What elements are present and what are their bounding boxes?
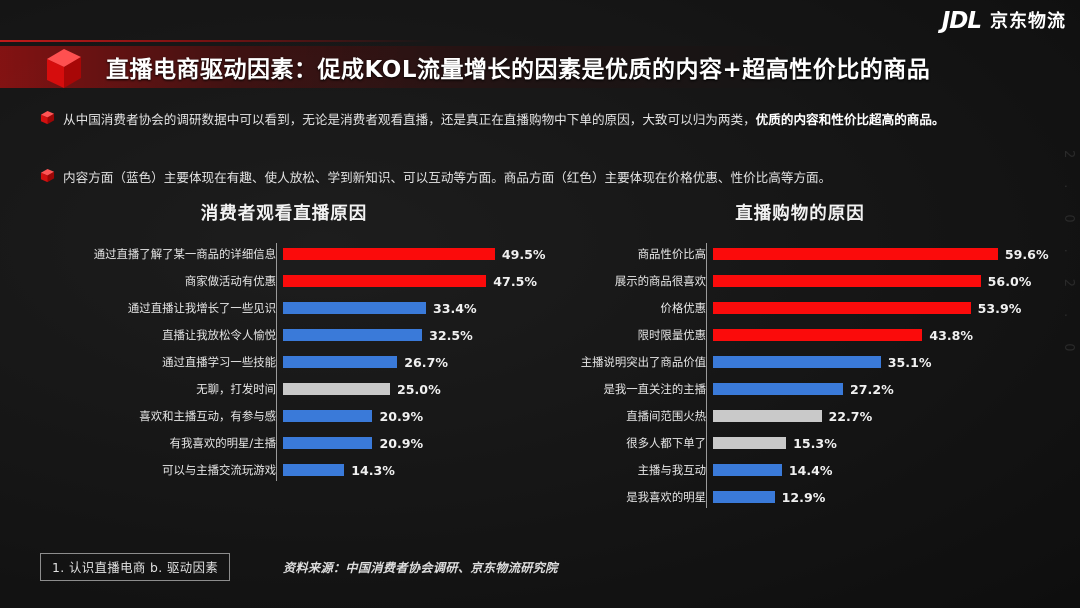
bar — [283, 329, 422, 341]
bar-row: 通过直播让我增长了一些见识33.4% — [24, 297, 544, 319]
bar-row: 通过直播学习一些技能26.7% — [24, 351, 544, 373]
bar-value-label: 43.8% — [929, 328, 973, 343]
bar — [283, 248, 495, 260]
chapter-tag: 1. 认识直播电商 b. 驱动因素 — [40, 553, 230, 581]
bar — [713, 437, 786, 449]
page-title: 直播电商驱动因素：促成KOL流量增长的因素是优质的内容+超高性价比的商品 — [106, 50, 930, 84]
bar-value-label: 47.5% — [493, 274, 537, 289]
bar — [713, 329, 922, 341]
bar-category-label: 是我一直关注的主播 — [540, 381, 713, 397]
bar-row: 主播与我互动14.4% — [540, 459, 1060, 481]
bar-value-label: 12.9% — [782, 490, 826, 505]
red-cube-bullet-icon — [40, 168, 55, 183]
bar-value-label: 32.5% — [429, 328, 473, 343]
bar-category-label: 很多人都下单了 — [540, 435, 713, 451]
bar — [283, 383, 390, 395]
bar-track: 26.7% — [283, 355, 544, 370]
bar-value-label: 27.2% — [850, 382, 894, 397]
bar-row: 商品性价比高59.6% — [540, 243, 1060, 265]
jdl-logo-cn: 京东物流 — [990, 13, 1066, 31]
bar-track: 56.0% — [713, 274, 1060, 289]
chart-purchase-reasons: 直播购物的原因 商品性价比高59.6%展示的商品很喜欢56.0%价格优惠53.9… — [540, 200, 1060, 540]
bar — [713, 275, 981, 287]
bar-track: 14.4% — [713, 463, 1060, 478]
bar-row: 限时限量优惠43.8% — [540, 324, 1060, 346]
bar-category-label: 主播与我互动 — [540, 462, 713, 478]
bar-category-label: 价格优惠 — [540, 300, 713, 316]
bar-category-label: 直播间范围火热 — [540, 408, 713, 424]
bar-value-label: 22.7% — [829, 409, 873, 424]
bar-track: 25.0% — [283, 382, 544, 397]
jdl-wordmark: JDL — [942, 10, 981, 33]
bar-rows: 商品性价比高59.6%展示的商品很喜欢56.0%价格优惠53.9%限时限量优惠4… — [540, 243, 1060, 508]
bar-track: 35.1% — [713, 355, 1060, 370]
bar-rows: 通过直播了解了某一商品的详细信息49.5%商家做活动有优惠47.5%通过直播让我… — [24, 243, 544, 481]
bar-track: 53.9% — [713, 301, 1060, 316]
watermark: 2.0.2.0 — [1061, 150, 1076, 377]
bar-track: 43.8% — [713, 328, 1060, 343]
bar — [713, 464, 782, 476]
bar-row: 可以与主播交流玩游戏14.3% — [24, 459, 544, 481]
bar-track: 33.4% — [283, 301, 544, 316]
bar — [713, 356, 881, 368]
bar-value-label: 56.0% — [988, 274, 1032, 289]
bar-row: 通过直播了解了某一商品的详细信息49.5% — [24, 243, 544, 265]
bar-value-label: 35.1% — [888, 355, 932, 370]
bullet-2-text: 内容方面（蓝色）主要体现在有趣、使人放松、学到新知识、可以互动等方面。商品方面（… — [63, 166, 831, 189]
bar-row: 展示的商品很喜欢56.0% — [540, 270, 1060, 292]
bar-row: 是我一直关注的主播27.2% — [540, 378, 1060, 400]
bar-value-label: 25.0% — [397, 382, 441, 397]
bar-category-label: 展示的商品很喜欢 — [540, 273, 713, 289]
bar-category-label: 限时限量优惠 — [540, 327, 713, 343]
bar — [283, 410, 372, 422]
jdl-logo: JDL 京东物流 — [942, 10, 1066, 33]
bar-track: 59.6% — [713, 247, 1060, 262]
red-cube-bullet-icon — [40, 110, 55, 125]
bar-value-label: 14.4% — [789, 463, 833, 478]
red-cube-icon — [43, 46, 85, 90]
bar-category-label: 是我喜欢的明星 — [540, 489, 713, 505]
bar-row: 直播间范围火热22.7% — [540, 405, 1060, 427]
bar-value-label: 53.9% — [978, 301, 1022, 316]
bar-value-label: 49.5% — [502, 247, 546, 262]
bar-value-label: 33.4% — [433, 301, 477, 316]
bar-track: 22.7% — [713, 409, 1060, 424]
bar-value-label: 59.6% — [1005, 247, 1049, 262]
chart-plot: 商品性价比高59.6%展示的商品很喜欢56.0%价格优惠53.9%限时限量优惠4… — [540, 243, 1060, 508]
bar-category-label: 喜欢和主播互动，有参与感 — [24, 408, 283, 424]
bar-track: 32.5% — [283, 328, 544, 343]
bar-row: 无聊，打发时间25.0% — [24, 378, 544, 400]
bar-value-label: 14.3% — [351, 463, 395, 478]
chart-viewing-reasons: 消费者观看直播原因 通过直播了解了某一商品的详细信息49.5%商家做活动有优惠4… — [24, 200, 544, 540]
chart-plot: 通过直播了解了某一商品的详细信息49.5%商家做活动有优惠47.5%通过直播让我… — [24, 243, 544, 481]
bar-row: 有我喜欢的明星/主播20.9% — [24, 432, 544, 454]
bar-value-label: 26.7% — [404, 355, 448, 370]
bullet-1-text: 从中国消费者协会的调研数据中可以看到，无论是消费者观看直播，还是真正在直播购物中… — [63, 108, 945, 131]
bar — [283, 302, 426, 314]
bar-category-label: 通过直播学习一些技能 — [24, 354, 283, 370]
bar-category-label: 有我喜欢的明星/主播 — [24, 435, 283, 451]
bar-value-label: 20.9% — [379, 409, 423, 424]
bar-track: 47.5% — [283, 274, 544, 289]
bar-category-label: 可以与主播交流玩游戏 — [24, 462, 283, 478]
bar-row: 主播说明突出了商品价值35.1% — [540, 351, 1060, 373]
bullet-item-1: 从中国消费者协会的调研数据中可以看到，无论是消费者观看直播，还是真正在直播购物中… — [40, 108, 1050, 131]
bar-category-label: 通过直播让我增长了一些见识 — [24, 300, 283, 316]
chart-title: 直播购物的原因 — [540, 200, 1060, 225]
bar-track: 49.5% — [283, 247, 546, 262]
bar-row: 是我喜欢的明星12.9% — [540, 486, 1060, 508]
bar-track: 20.9% — [283, 436, 544, 451]
bar-row: 商家做活动有优惠47.5% — [24, 270, 544, 292]
bar — [283, 356, 397, 368]
bar-track: 15.3% — [713, 436, 1060, 451]
title-accent-rule — [0, 40, 430, 42]
bar-row: 直播让我放松令人愉悦32.5% — [24, 324, 544, 346]
bar — [283, 275, 486, 287]
bullet-1-text-bold: 优质的内容和性价比超高的商品。 — [756, 112, 945, 127]
bar — [713, 410, 822, 422]
bar-track: 20.9% — [283, 409, 544, 424]
bar-category-label: 直播让我放松令人愉悦 — [24, 327, 283, 343]
y-axis-line — [706, 243, 707, 508]
bar-category-label: 无聊，打发时间 — [24, 381, 283, 397]
bar-value-label: 20.9% — [379, 436, 423, 451]
bar-row: 喜欢和主播互动，有参与感20.9% — [24, 405, 544, 427]
bar — [713, 248, 998, 260]
source-note: 资料来源：中国消费者协会调研、京东物流研究院 — [283, 558, 558, 576]
bar — [283, 464, 344, 476]
slide-root: 2.0.2.0 JDL 京东物流 直播电商驱动因素：促成KOL流量增长的因素是优… — [0, 0, 1080, 608]
bar-value-label: 15.3% — [793, 436, 837, 451]
bar-category-label: 商家做活动有优惠 — [24, 273, 283, 289]
bar — [283, 437, 372, 449]
y-axis-line — [276, 243, 277, 481]
chart-title: 消费者观看直播原因 — [24, 200, 544, 225]
bar-track: 12.9% — [713, 490, 1060, 505]
bar-track: 14.3% — [283, 463, 544, 478]
bar-row: 价格优惠53.9% — [540, 297, 1060, 319]
bullet-item-2: 内容方面（蓝色）主要体现在有趣、使人放松、学到新知识、可以互动等方面。商品方面（… — [40, 166, 1050, 189]
bar — [713, 383, 843, 395]
bar — [713, 302, 971, 314]
bar-category-label: 主播说明突出了商品价值 — [540, 354, 713, 370]
bullet-1-text-plain: 从中国消费者协会的调研数据中可以看到，无论是消费者观看直播，还是真正在直播购物中… — [63, 112, 756, 127]
bar-category-label: 商品性价比高 — [540, 246, 713, 262]
bar-track: 27.2% — [713, 382, 1060, 397]
bar-category-label: 通过直播了解了某一商品的详细信息 — [24, 246, 283, 262]
bar-row: 很多人都下单了15.3% — [540, 432, 1060, 454]
bar — [713, 491, 775, 503]
